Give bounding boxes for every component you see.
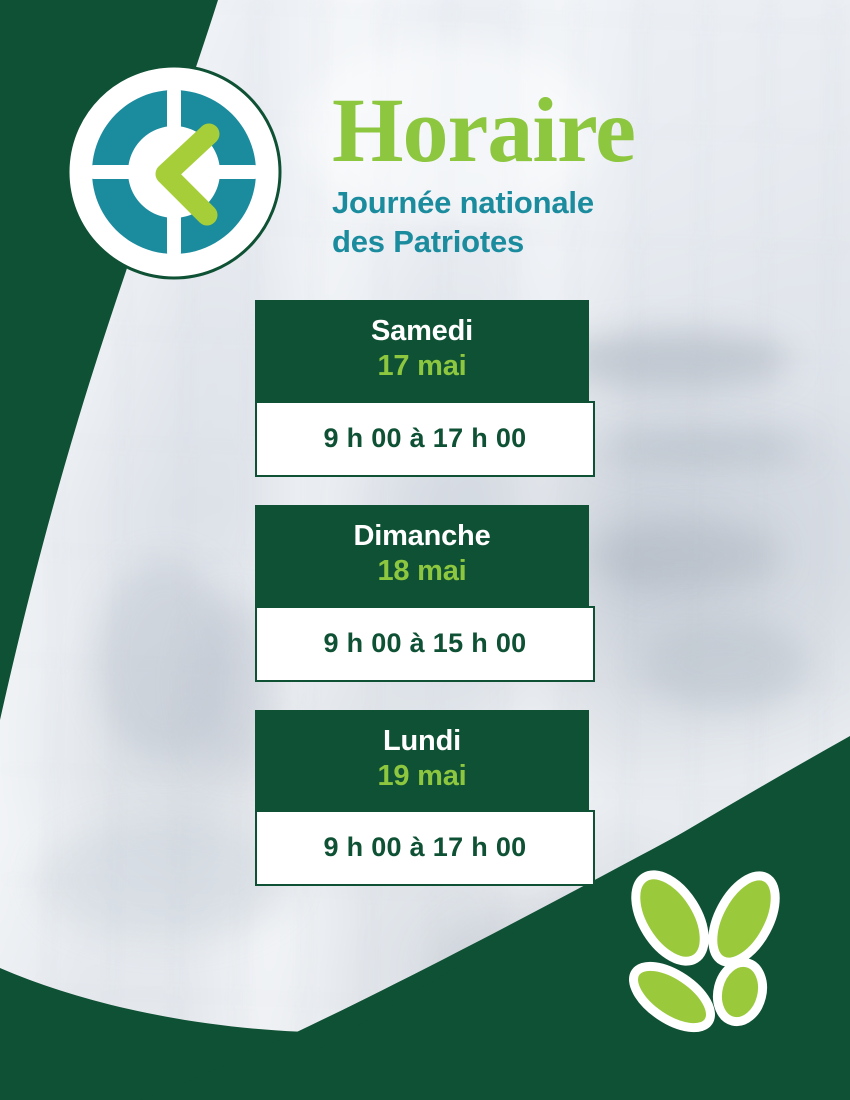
schedule-card-header: Lundi 19 mai (255, 710, 589, 811)
schedule-date: 19 mai (255, 759, 589, 794)
schedule-day: Dimanche (255, 519, 589, 554)
page-title: Horaire (332, 86, 812, 174)
subtitle-line-1: Journée nationale (332, 185, 594, 220)
schedule-card-header: Dimanche 18 mai (255, 505, 589, 606)
schedule-card: Samedi 17 mai 9 h 00 à 17 h 00 (255, 300, 595, 477)
butterfly-logo-icon (612, 862, 802, 1052)
schedule-hours: 9 h 00 à 17 h 00 (255, 810, 595, 886)
schedule-day: Lundi (255, 724, 589, 759)
schedule-day: Samedi (255, 314, 589, 349)
clock-icon (66, 64, 282, 280)
schedule-poster: Horaire Journée nationale des Patriotes … (0, 0, 850, 1100)
schedule-date: 18 mai (255, 554, 589, 589)
schedule-hours: 9 h 00 à 17 h 00 (255, 401, 595, 477)
schedule-card-list: Samedi 17 mai 9 h 00 à 17 h 00 Dimanche … (255, 300, 595, 886)
schedule-date: 17 mai (255, 349, 589, 384)
page-subtitle: Journée nationale des Patriotes (332, 184, 812, 262)
schedule-hours: 9 h 00 à 15 h 00 (255, 606, 595, 682)
subtitle-line-2: des Patriotes (332, 224, 524, 259)
poster-heading: Horaire Journée nationale des Patriotes (332, 86, 812, 262)
schedule-card: Dimanche 18 mai 9 h 00 à 15 h 00 (255, 505, 595, 682)
schedule-card: Lundi 19 mai 9 h 00 à 17 h 00 (255, 710, 595, 887)
schedule-card-header: Samedi 17 mai (255, 300, 589, 401)
